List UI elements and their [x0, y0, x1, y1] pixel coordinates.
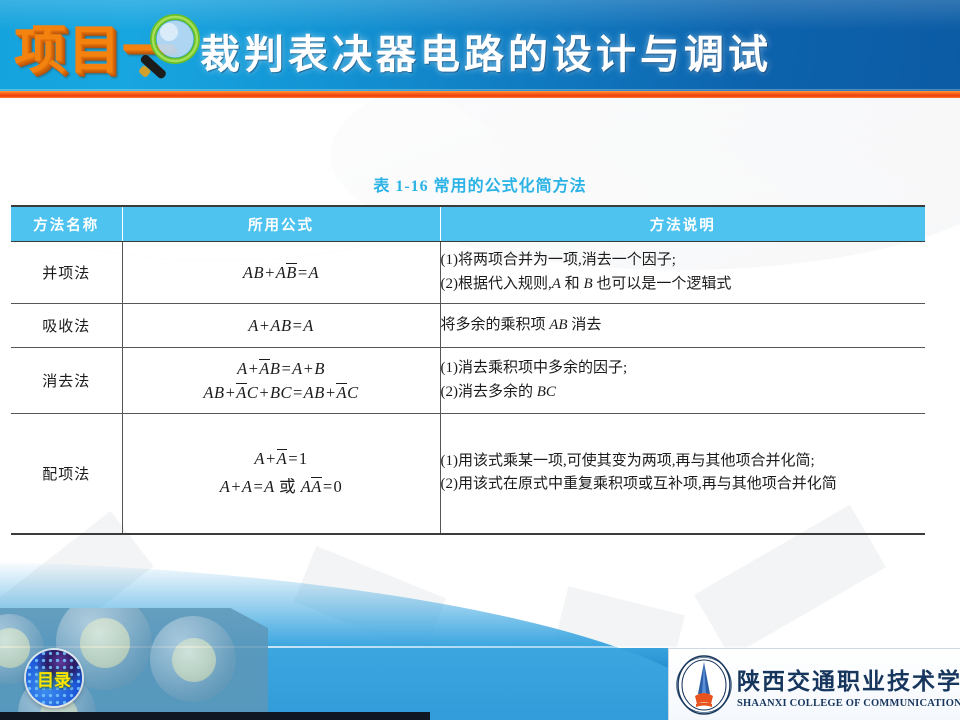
- table-caption: 表 1-16 常用的公式化简方法: [0, 172, 960, 196]
- table-of-contents-button[interactable]: 目录: [26, 650, 82, 706]
- formula-table-wrapper: 方法名称 所用公式 方法说明 并项法 AB+AB=A (1)将两项合并为一项,消…: [11, 205, 925, 535]
- cell-description: 将多余的乘积项 AB 消去: [440, 304, 925, 348]
- column-header-description: 方法说明: [440, 206, 925, 242]
- cell-method-name: 吸收法: [11, 304, 122, 348]
- column-header-method-name: 方法名称: [11, 206, 122, 242]
- school-name-block: 陕西交通职业技术学院 SHAANXI COLLEGE OF COMMUNICAT…: [737, 662, 960, 709]
- formula-expression: A+A=1: [123, 449, 440, 469]
- cell-description: (1)消去乘积项中多余的因子; (2)消去多余的 BC: [440, 348, 925, 414]
- slide-canvas: 项目一 裁判表决器电路的设计与调试 表 1-16 常用的公式化简方法 方法名称 …: [0, 0, 960, 720]
- page-title: 裁判表决器电路的设计与调试: [200, 22, 950, 80]
- column-header-formula: 所用公式: [122, 206, 440, 242]
- formula-expression: A+A=A 或 AA=0: [123, 473, 440, 497]
- table-row: 消去法 A+AB=A+B AB+AC+BC=AB+AC (1)消去乘积项中多余的…: [11, 348, 925, 414]
- school-name-en: SHAANXI COLLEGE OF COMMUNICATION TECHNOL…: [737, 698, 960, 709]
- cell-formula: A+AB=A: [122, 304, 440, 348]
- description-line: (2)根据代入规则,A 和 B 也可以是一个逻辑式: [441, 273, 926, 296]
- school-name-cn: 陕西交通职业技术学院: [737, 662, 960, 696]
- cell-description: (1)将两项合并为一项,消去一个因子; (2)根据代入规则,A 和 B 也可以是…: [440, 242, 925, 304]
- description-line: (1)消去乘积项中多余的因子;: [441, 357, 926, 380]
- description-line: (2)消去多余的 BC: [441, 381, 926, 404]
- table-row: 并项法 AB+AB=A (1)将两项合并为一项,消去一个因子; (2)根据代入规…: [11, 242, 925, 304]
- cell-method-name: 配项法: [11, 414, 122, 534]
- cell-formula: AB+AB=A: [122, 242, 440, 304]
- description-line: 将多余的乘积项 AB 消去: [441, 314, 926, 337]
- formula-expression: A+AB=A+B: [123, 359, 440, 379]
- toc-button-label: 目录: [26, 650, 82, 706]
- table-row: 吸收法 A+AB=A 将多余的乘积项 AB 消去: [11, 304, 925, 348]
- cell-formula: A+A=1 A+A=A 或 AA=0: [122, 414, 440, 534]
- formula-simplification-table: 方法名称 所用公式 方法说明 并项法 AB+AB=A (1)将两项合并为一项,消…: [11, 205, 925, 535]
- description-line: (1)用该式乘某一项,可使其变为两项,再与其他项合并化简;: [441, 450, 926, 473]
- formula-expression: AB+AC+BC=AB+AC: [123, 383, 440, 403]
- magnifier-icon: [128, 12, 208, 88]
- cell-method-name: 消去法: [11, 348, 122, 414]
- table-header-row: 方法名称 所用公式 方法说明: [11, 206, 925, 242]
- formula-expression: AB+AB=A: [123, 263, 440, 283]
- school-emblem-icon: [675, 654, 733, 716]
- cell-description: (1)用该式乘某一项,可使其变为两项,再与其他项合并化简; (2)用该式在原式中…: [440, 414, 925, 534]
- table-row: 配项法 A+A=1 A+A=A 或 AA=0 (1)用该式乘某一项,可使其变为两…: [11, 414, 925, 534]
- description-line: (2)用该式在原式中重复乘积项或互补项,再与其他项合并化简: [441, 473, 926, 496]
- cell-method-name: 并项法: [11, 242, 122, 304]
- school-logo: 陕西交通职业技术学院 SHAANXI COLLEGE OF COMMUNICAT…: [668, 648, 960, 720]
- description-line: (1)将两项合并为一项,消去一个因子;: [441, 249, 926, 272]
- footer-dark-strip: [0, 712, 430, 720]
- formula-expression: A+AB=A: [123, 316, 440, 336]
- cell-formula: A+AB=A+B AB+AC+BC=AB+AC: [122, 348, 440, 414]
- banner-orange-divider: [0, 91, 960, 98]
